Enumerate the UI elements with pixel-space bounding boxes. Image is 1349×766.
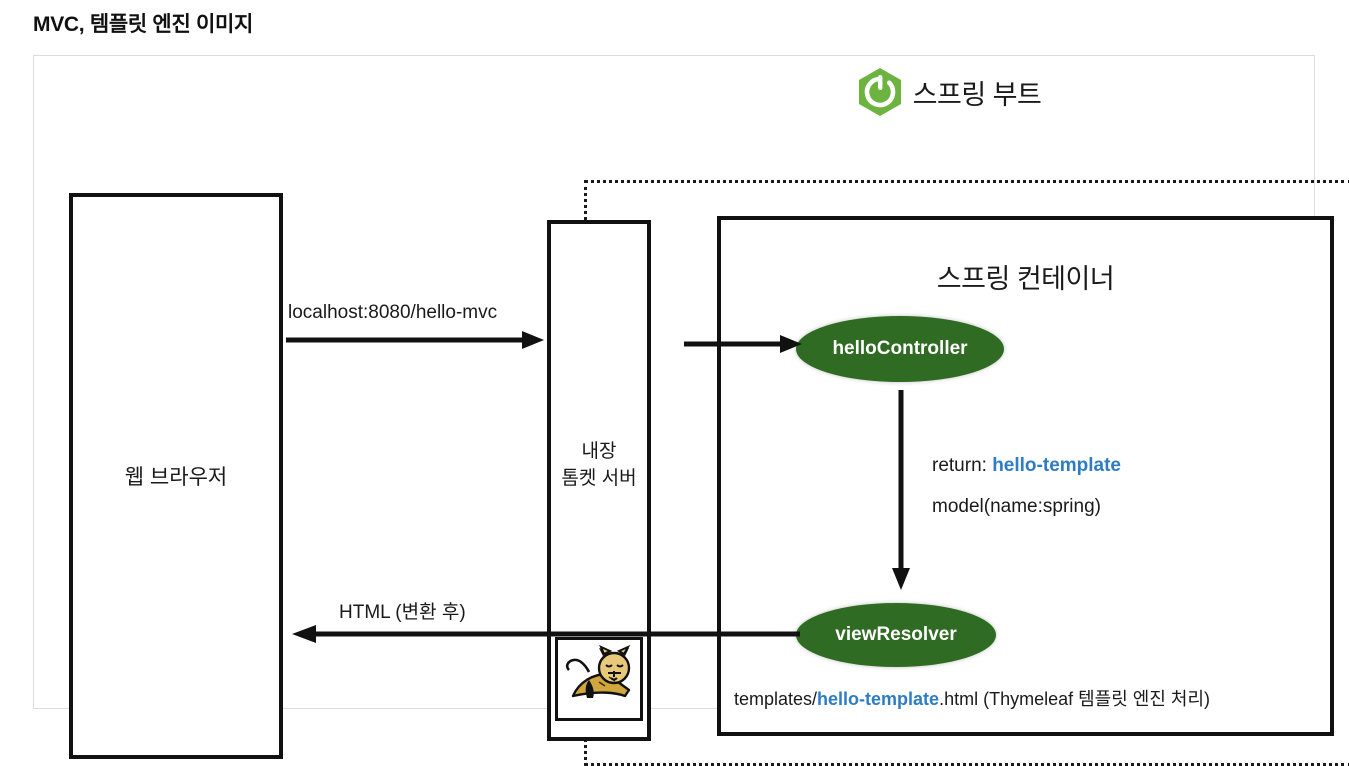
page-title: MVC, 템플릿 엔진 이미지: [33, 8, 253, 38]
response-html-label: HTML (변환 후): [339, 597, 466, 624]
web-browser-label: 웹 브라우저: [125, 461, 227, 491]
tomcat-label-line1: 내장: [582, 441, 617, 462]
template-path-name: hello-template: [817, 689, 939, 709]
springboot-header: 스프링 부트: [784, 64, 1114, 120]
web-browser-box: 웹 브라우저: [69, 193, 283, 759]
template-path-label: templates/hello-template.html (Thymeleaf…: [734, 685, 1210, 711]
springboot-label: 스프링 부트: [913, 73, 1042, 112]
return-prefix: return:: [932, 455, 992, 476]
arrow-controller-to-viewresolver: [886, 390, 916, 590]
tomcat-cat-icon: [559, 644, 639, 714]
tomcat-logo-box: [555, 637, 643, 721]
spring-container-title: 스프링 컨테이너: [721, 257, 1330, 296]
template-path-prefix: templates/: [734, 689, 817, 709]
arrow-tomcat-to-controller: [684, 332, 802, 356]
arrow-viewresolver-to-browser: [292, 622, 800, 646]
request-url-label: localhost:8080/hello-mvc: [288, 302, 497, 324]
return-view-name: hello-template: [992, 455, 1121, 476]
spring-boot-leaf-power-icon: [857, 67, 903, 117]
diagram-frame: 스프링 부트 웹 브라우저 내장 톰켓 서버 스프링: [33, 55, 1315, 709]
tomcat-label-line2: 톰켓 서버: [561, 468, 636, 489]
bean-hellocontroller[interactable]: helloController: [796, 316, 1004, 382]
template-path-suffix: .html (Thymeleaf 템플릿 엔진 처리): [939, 689, 1210, 709]
arrow-browser-to-tomcat: [286, 328, 544, 352]
model-attribute-label: model(name:spring): [932, 496, 1101, 518]
return-statement-label: return: hello-template: [932, 455, 1121, 477]
tomcat-server-label: 내장 톰켓 서버: [551, 439, 647, 493]
bean-viewresolver[interactable]: viewResolver: [796, 603, 996, 667]
